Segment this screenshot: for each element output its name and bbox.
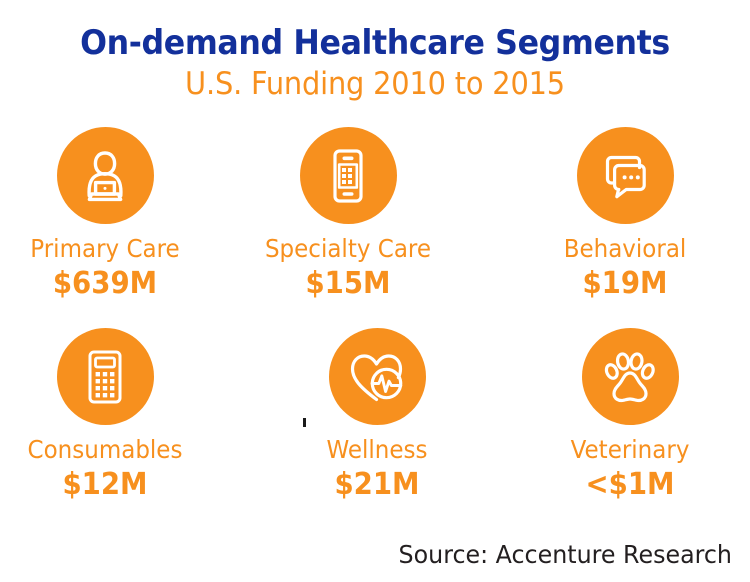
segment-specialty-care: Specialty Care $15M (223, 127, 473, 302)
segment-veterinary: Veterinary <$1M (505, 328, 750, 503)
segment-value: $12M (0, 467, 220, 503)
segment-behavioral: Behavioral $19M (500, 127, 750, 302)
segment-value: $21M (262, 467, 492, 503)
segment-label: Specialty Care (233, 234, 463, 264)
infographic-canvas: On-demand Healthcare Segments U.S. Fundi… (0, 0, 750, 582)
icon-badge-wellness (329, 328, 426, 425)
image-artifact-speck (303, 418, 306, 427)
heading-block: On-demand Healthcare Segments U.S. Fundi… (0, 22, 750, 104)
icon-badge-consumables (57, 328, 154, 425)
segment-value: $19M (510, 266, 740, 302)
source-attribution: Source: Accenture Research (399, 540, 732, 570)
calculator-icon (75, 347, 135, 407)
paw-print-icon (599, 346, 661, 408)
segment-label: Veterinary (515, 435, 745, 465)
segment-label: Wellness (262, 435, 492, 465)
heart-pulse-icon (345, 345, 409, 409)
page-title: On-demand Healthcare Segments (26, 22, 724, 64)
smartphone-icon (317, 145, 379, 207)
segment-primary-care: Primary Care $639M (0, 127, 230, 302)
segment-value: $15M (233, 266, 463, 302)
icon-badge-veterinary (582, 328, 679, 425)
icon-badge-primary-care (57, 127, 154, 224)
icon-badge-specialty-care (300, 127, 397, 224)
segment-label: Primary Care (0, 234, 220, 264)
page-subtitle: U.S. Funding 2010 to 2015 (26, 64, 724, 104)
segment-consumables: Consumables $12M (0, 328, 230, 503)
segment-wellness: Wellness $21M (252, 328, 502, 503)
chat-bubbles-icon (594, 145, 656, 207)
icon-badge-behavioral (577, 127, 674, 224)
segment-label: Behavioral (510, 234, 740, 264)
person-with-laptop-icon (74, 145, 136, 207)
segment-value: <$1M (515, 467, 745, 503)
segment-value: $639M (0, 266, 220, 302)
segment-label: Consumables (0, 435, 220, 465)
